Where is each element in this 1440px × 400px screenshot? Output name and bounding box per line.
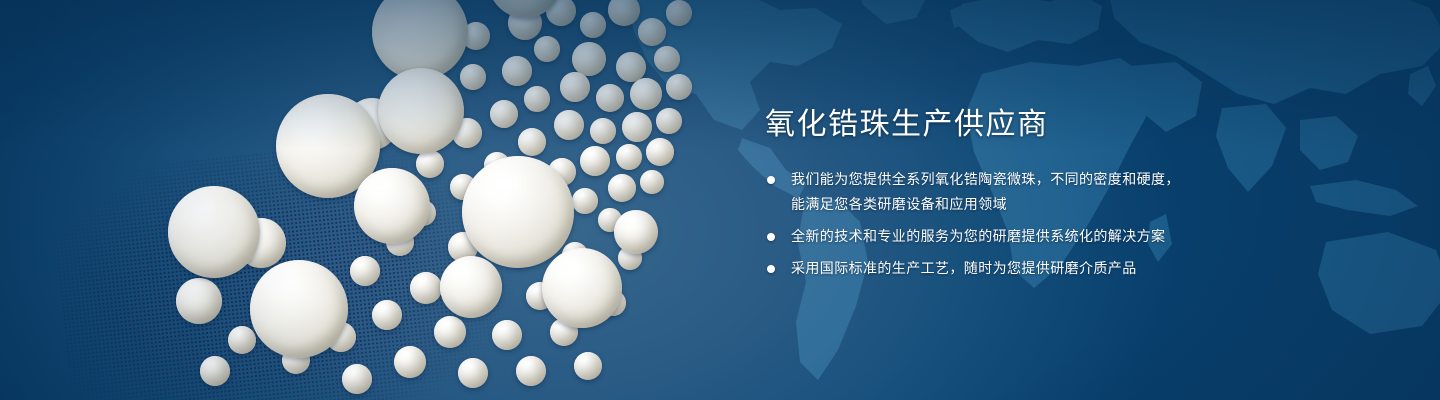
- banner-bullet-list: 我们能为您提供全系列氧化锆陶瓷微珠，不同的密度和硬度， 能满足您各类研磨设备和应…: [765, 167, 1325, 281]
- bullet-line-1: 我们能为您提供全系列氧化锆陶瓷微珠，不同的密度和硬度，: [791, 171, 1180, 187]
- banner-bullet-item: 采用国际标准的生产工艺，随时为您提供研磨介质产品: [765, 256, 1325, 281]
- bullet-text: 全新的技术和专业的服务为您的研磨提供系统化的解决方案: [791, 224, 1325, 249]
- bullet-dot-icon: [767, 265, 775, 273]
- bullet-text: 我们能为您提供全系列氧化锆陶瓷微珠，不同的密度和硬度， 能满足您各类研磨设备和应…: [791, 167, 1325, 217]
- bullet-dot-icon: [767, 233, 775, 241]
- banner-bullet-item: 我们能为您提供全系列氧化锆陶瓷微珠，不同的密度和硬度， 能满足您各类研磨设备和应…: [765, 167, 1325, 217]
- bullet-text: 采用国际标准的生产工艺，随时为您提供研磨介质产品: [791, 256, 1325, 281]
- bullet-line-2: 能满足您各类研磨设备和应用领域: [791, 192, 1325, 217]
- bullet-dot-icon: [767, 176, 775, 184]
- banner-content: 氧化锆珠生产供应商 我们能为您提供全系列氧化锆陶瓷微珠，不同的密度和硬度， 能满…: [765, 105, 1325, 288]
- banner-bullet-item: 全新的技术和专业的服务为您的研磨提供系统化的解决方案: [765, 224, 1325, 249]
- bullet-line-1: 采用国际标准的生产工艺，随时为您提供研磨介质产品: [791, 260, 1137, 276]
- bullet-line-1: 全新的技术和专业的服务为您的研磨提供系统化的解决方案: [791, 228, 1165, 244]
- banner-headline: 氧化锆珠生产供应商: [765, 105, 1325, 145]
- hero-banner: 氧化锆珠生产供应商 我们能为您提供全系列氧化锆陶瓷微珠，不同的密度和硬度， 能满…: [0, 0, 1440, 400]
